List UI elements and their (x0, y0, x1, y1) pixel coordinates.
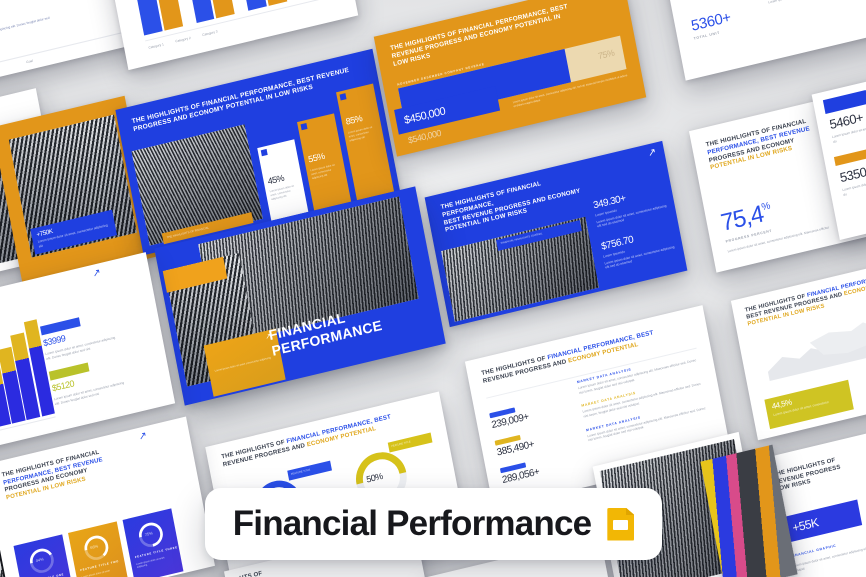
plus55k-headline: THE HIGHLIGHTS OF REVENUE PROGRESS LOW R… (772, 442, 866, 495)
percent-card-caption: Lorem ipsum dolor sit amet, consectetur … (348, 125, 379, 143)
revenue-primary-value: $450,000 (403, 105, 446, 126)
slide-phone-cards[interactable]: THE HIGHLIGHTS OF FINANCIAL PERFORMANCE,… (0, 417, 215, 577)
phone-gauge-card-2[interactable]: 66% FEATURE TITLE TWO Lorem ipsum dolor … (68, 521, 129, 577)
percent-card-caption: Lorem ipsum dolor sit amet, consectetur … (310, 162, 341, 180)
phone-cards-headline: THE HIGHLIGHTS OF FINANCIAL PERFORMANCE,… (1, 440, 143, 502)
plus55k-value: +55K (791, 515, 819, 535)
bar-tick: Category 2 (175, 36, 191, 44)
line-chart-tick: Goal (26, 59, 33, 65)
total-unit-body: Lorem ipsum dolor sit amet, consectetur … (768, 0, 866, 5)
percent-card-caption: Lorem ipsum dolor sit amet, consectetur … (270, 183, 301, 201)
growth-stat-value: $3999 (42, 333, 66, 348)
phone-mockup (0, 520, 13, 577)
arrow-up-right-icon: ↗ (92, 267, 102, 280)
percent-card-value: 85% (345, 113, 363, 127)
percent-card-value: 55% (307, 151, 325, 165)
slide-blue-stats[interactable]: THE HIGHLIGHTS OF FINANCIAL PERFORMANCE,… (425, 141, 688, 327)
bar-tick: Category 3 (202, 30, 218, 38)
bottom-partial-headline: HTS OF (239, 571, 263, 577)
growth-stat-value: $5120 (51, 378, 75, 393)
donut-tag: FEATURE TITLE (287, 461, 332, 481)
slide-top-bars[interactable]: Category 1 Category 2 Category 3 (102, 0, 358, 70)
percent-card-45[interactable]: 45% Lorem ipsum dolor sit amet, consecte… (257, 139, 308, 220)
plus55k-chip: +55K (783, 499, 862, 542)
phone-gauge-card-3[interactable]: 75% FEATURE TITLE THREE Lorem ipsum dolo… (123, 508, 184, 577)
right-stats-value-bottom: 5350 (839, 164, 866, 185)
phone-gauge-card-1[interactable]: 44% FEATURE TITLE ONE Lorem ipsum dolor … (14, 534, 75, 577)
banner-title: Financial Performance (233, 504, 592, 544)
arrow-up-right-icon: ↗ (647, 147, 657, 160)
arrow-up-right-icon: ↗ (138, 430, 148, 443)
hero-orange-body: Lorem ipsum dolor sit amet consectetur a… (215, 356, 272, 373)
donut-tag: FEATURE TITLE (388, 433, 433, 453)
percent-card-value: 45% (267, 173, 285, 187)
google-slides-icon (607, 508, 634, 541)
slide-map[interactable]: THE HIGHLIGHTS OF FINANCIAL PERFORMANCE,… (731, 258, 866, 441)
template-title-banner: Financial Performance (205, 488, 662, 560)
slide-revenue-bar[interactable]: THE HIGHLIGHTS OF FINANCIAL PERFORMANCE,… (374, 0, 647, 157)
bar-tick: Category 1 (148, 43, 164, 51)
progress-percent-unit: % (761, 201, 771, 214)
revenue-percent: 75% (597, 48, 615, 62)
template-showcase-canvas: 4.1% Lorem ipsum dolor sit amet, consect… (0, 0, 866, 577)
slide-total-unit[interactable]: 01Lorem ipsum dolor sit amet consectetur… (657, 0, 866, 81)
